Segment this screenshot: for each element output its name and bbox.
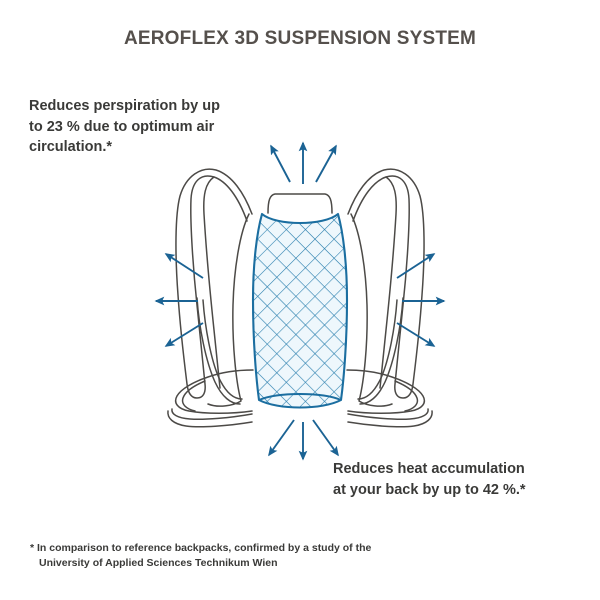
arrow-left-upper: [166, 254, 203, 278]
infographic-canvas: AEROFLEX 3D SUSPENSION SYSTEM Reduces pe…: [0, 0, 600, 600]
arrow-right-upper: [397, 254, 434, 278]
arrow-left-lower: [166, 323, 203, 346]
arrow-top-left: [271, 146, 290, 182]
strap-webbing-right-inner: [358, 300, 397, 399]
backpack-illustration: [0, 0, 600, 600]
pack-panel-right: [351, 214, 392, 406]
hipbelt-strap-right: [348, 409, 428, 419]
pack-top-yoke: [268, 194, 332, 213]
arrow-bottom-right: [313, 420, 338, 455]
strap-webbing-left-inner: [203, 300, 242, 399]
hipbelt-strap-left: [172, 409, 252, 419]
mesh-ventilation-panel: [253, 214, 347, 408]
arrow-bottom-left: [269, 420, 294, 455]
pack-panel-left: [208, 214, 249, 406]
arrow-top-right: [316, 146, 336, 182]
mesh-panel-fill: [253, 214, 347, 408]
arrow-right-lower: [397, 323, 434, 346]
